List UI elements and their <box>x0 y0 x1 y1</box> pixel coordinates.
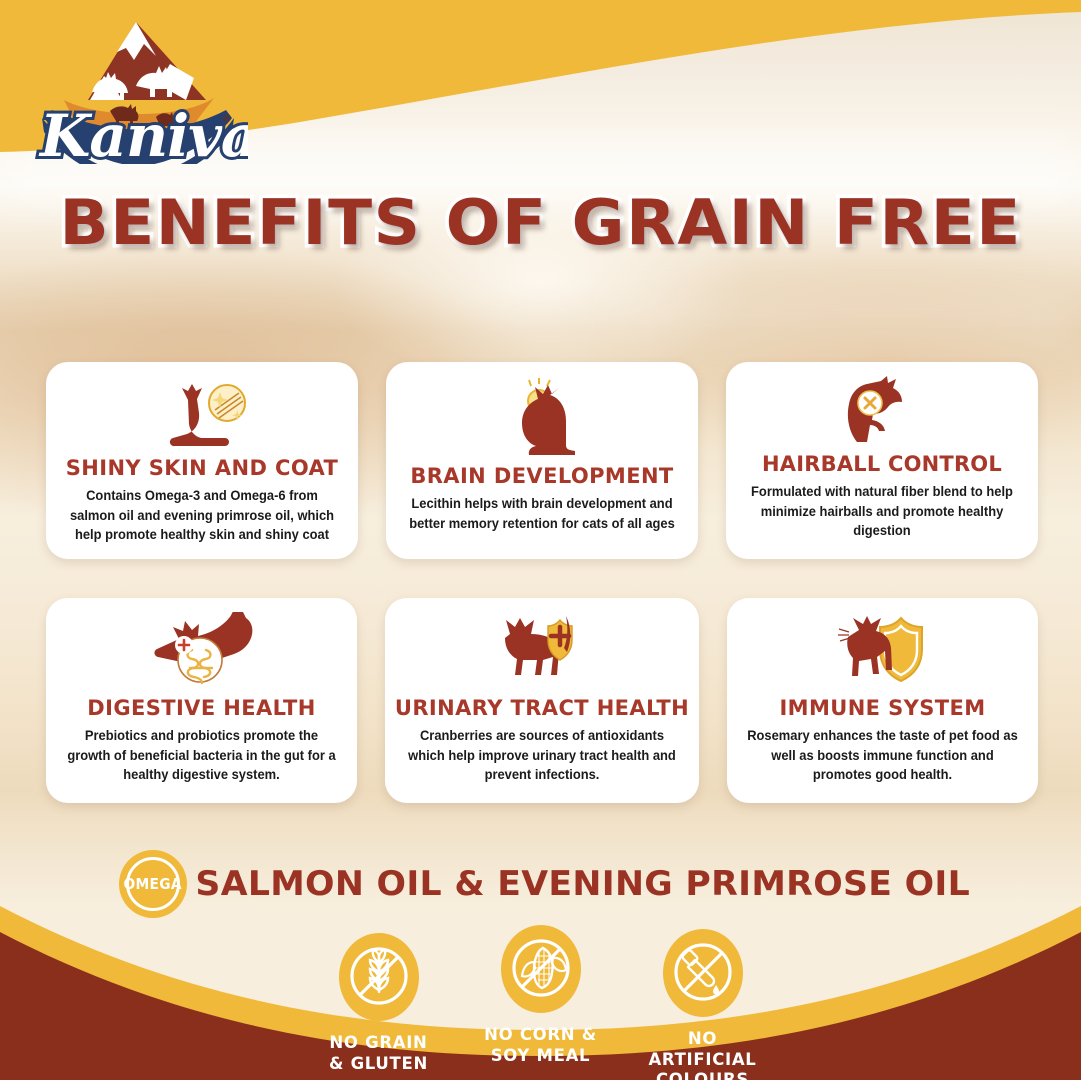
benefit-title: IMMUNE SYSTEM <box>779 696 985 720</box>
free-from-badges: NO GRAIN & GLUTEN NO CORN & SOY MEAL <box>0 925 1081 1080</box>
free-from-item-no-grain-gluten[interactable]: NO GRAIN & GLUTEN <box>320 933 438 1080</box>
no-dropper-icon <box>663 929 743 1017</box>
omega-badge-label: OMEGA <box>124 875 182 893</box>
benefit-title: HAIRBALL CONTROL <box>762 452 1002 476</box>
page-title-wrap: BENEFITS OF GRAIN FREE <box>0 186 1081 259</box>
omega-headline-row: OMEGA SALMON OIL & EVENING PRIMROSE OIL <box>0 850 1081 918</box>
cat-with-brush-badge-icon <box>147 376 257 450</box>
benefit-title: DIGESTIVE HEALTH <box>87 696 315 720</box>
omega-headline: SALMON OIL & EVENING PRIMROSE OIL <box>195 864 970 904</box>
benefit-body: Cranberries are sources of antioxidants … <box>404 726 680 785</box>
no-wheat-icon <box>339 933 419 1021</box>
benefit-body: Prebiotics and probiotics promote the gr… <box>65 726 338 785</box>
free-from-label: NO CORN & SOY MEAL <box>484 1025 597 1066</box>
benefit-title: BRAIN DEVELOPMENT <box>410 464 673 488</box>
benefits-row-1: SHINY SKIN AND COAT Contains Omega-3 and… <box>46 362 1038 559</box>
background-blur-streak <box>620 300 1080 340</box>
benefit-card-shiny-skin-and-coat[interactable]: SHINY SKIN AND COAT Contains Omega-3 and… <box>46 362 358 559</box>
benefit-title: SHINY SKIN AND COAT <box>66 456 339 480</box>
walking-cat-shield-cross-icon <box>482 612 602 690</box>
benefits-row-2: DIGESTIVE HEALTH Prebiotics and probioti… <box>46 598 1038 803</box>
benefit-body: Formulated with natural fiber blend to h… <box>745 482 1019 541</box>
jumping-cat-intestine-icon <box>142 612 262 690</box>
infographic-canvas: Kaniva ® BENEFITS OF GRAIN FREE <box>0 0 1081 1080</box>
free-from-item-no-artificial-colours[interactable]: NO ARTIFICIAL COLOURS <box>644 929 762 1080</box>
no-corn-icon <box>501 925 581 1013</box>
free-from-label: NO ARTIFICIAL COLOURS <box>644 1029 762 1080</box>
logo-wordmark: Kaniva <box>38 102 248 164</box>
benefit-card-immune-system[interactable]: IMMUNE SYSTEM Rosemary enhances the tast… <box>727 598 1038 803</box>
omega-badge-icon: OMEGA <box>119 850 187 918</box>
benefit-title: URINARY TRACT HEALTH <box>395 696 689 720</box>
benefit-body: Lecithin helps with brain development an… <box>405 494 679 533</box>
registered-trademark: ® <box>221 112 232 125</box>
benefit-body: Rosemary enhances the taste of pet food … <box>746 726 1019 785</box>
grooming-cat-hairball-icon <box>827 376 937 446</box>
benefit-card-brain-development[interactable]: BRAIN DEVELOPMENT Lecithin helps with br… <box>386 362 698 559</box>
free-from-item-no-corn-soy[interactable]: NO CORN & SOY MEAL <box>482 925 600 1080</box>
benefit-card-digestive-health[interactable]: DIGESTIVE HEALTH Prebiotics and probioti… <box>46 598 357 803</box>
benefit-card-urinary-tract-health[interactable]: URINARY TRACT HEALTH Cranberries are sou… <box>385 598 699 803</box>
benefit-body: Contains Omega-3 and Omega-6 from salmon… <box>65 486 339 545</box>
cat-with-lightbulb-icon <box>487 376 597 458</box>
benefits-grid: SHINY SKIN AND COAT Contains Omega-3 and… <box>46 362 1038 803</box>
cat-shield-outline-icon <box>823 612 943 690</box>
brand-logo[interactable]: Kaniva ® <box>18 14 248 164</box>
page-title: BENEFITS OF GRAIN FREE <box>59 186 1021 259</box>
free-from-label: NO GRAIN & GLUTEN <box>329 1033 428 1074</box>
benefit-card-hairball-control[interactable]: HAIRBALL CONTROL Formulated with natural… <box>726 362 1038 559</box>
